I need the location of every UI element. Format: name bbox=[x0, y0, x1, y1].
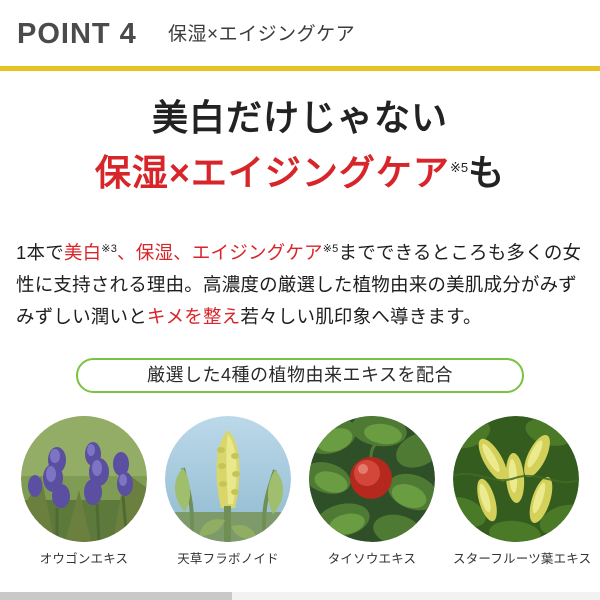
ingredient-card-list: オウゴンエキス bbox=[0, 416, 600, 567]
photo-ougon-flowers bbox=[21, 416, 147, 542]
body-seg-6: 若々しい肌印象へ導きます。 bbox=[240, 306, 481, 327]
photo-taiso-jujube bbox=[309, 416, 435, 542]
page-header: POINT 4 保湿×エイジングケア bbox=[0, 0, 600, 72]
ougon-flowers-illustration bbox=[21, 416, 147, 542]
header-underline-rule bbox=[0, 66, 600, 71]
body-footnote-marker-2: ※5 bbox=[323, 242, 339, 254]
ingredient-caption: 天草フラボノイド bbox=[165, 551, 291, 567]
bottom-progress-thumb[interactable] bbox=[0, 592, 232, 600]
list-item: オウゴンエキス bbox=[21, 416, 147, 567]
taiso-jujube-illustration bbox=[309, 416, 435, 542]
point-label: POINT 4 bbox=[17, 17, 137, 51]
ingredient-caption: オウゴンエキス bbox=[21, 551, 147, 567]
body-footnote-marker-1: ※3 bbox=[101, 242, 117, 254]
list-item: スターフルーツ葉エキス bbox=[453, 416, 579, 567]
list-item: タイソウエキス bbox=[309, 416, 435, 567]
ingredients-pill-heading: 厳選した4種の植物由来エキスを配合 bbox=[76, 358, 524, 393]
ingredients-pill-label: 厳選した4種の植物由来エキスを配合 bbox=[78, 360, 522, 391]
headline-line-1: 美白だけじゃない bbox=[0, 95, 600, 141]
body-seg-1: 1本で bbox=[16, 242, 64, 263]
body-highlight-kime: キメを整え bbox=[147, 306, 241, 327]
starfruit-leaf-illustration bbox=[453, 416, 579, 542]
point-subtitle: 保湿×エイジングケア bbox=[168, 22, 355, 48]
ingredient-caption: タイソウエキス bbox=[309, 551, 435, 567]
headline-highlight: 保湿×エイジングケア bbox=[95, 152, 450, 193]
photo-amakusa-plant bbox=[165, 416, 291, 542]
body-paragraph: 1本で美白※3、保湿、エイジングケア※5までできるところも多くの女性に支持される… bbox=[16, 237, 588, 333]
headline-tail: も bbox=[468, 152, 505, 193]
list-item: 天草フラボノイド bbox=[165, 416, 291, 567]
bottom-progress-track[interactable] bbox=[0, 592, 600, 600]
body-highlight-bihaku: 美白 bbox=[64, 242, 101, 263]
amakusa-plant-illustration bbox=[165, 416, 291, 542]
body-highlight-hoshitsu: 、保湿、エイジングケア bbox=[117, 242, 323, 263]
headline-block: 美白だけじゃない 保湿×エイジングケア※5も bbox=[0, 95, 600, 196]
headline-footnote-marker: ※5 bbox=[450, 160, 468, 175]
headline-line-2: 保湿×エイジングケア※5も bbox=[0, 145, 600, 196]
photo-starfruit-leaf bbox=[453, 416, 579, 542]
ingredient-caption: スターフルーツ葉エキス bbox=[453, 551, 579, 567]
